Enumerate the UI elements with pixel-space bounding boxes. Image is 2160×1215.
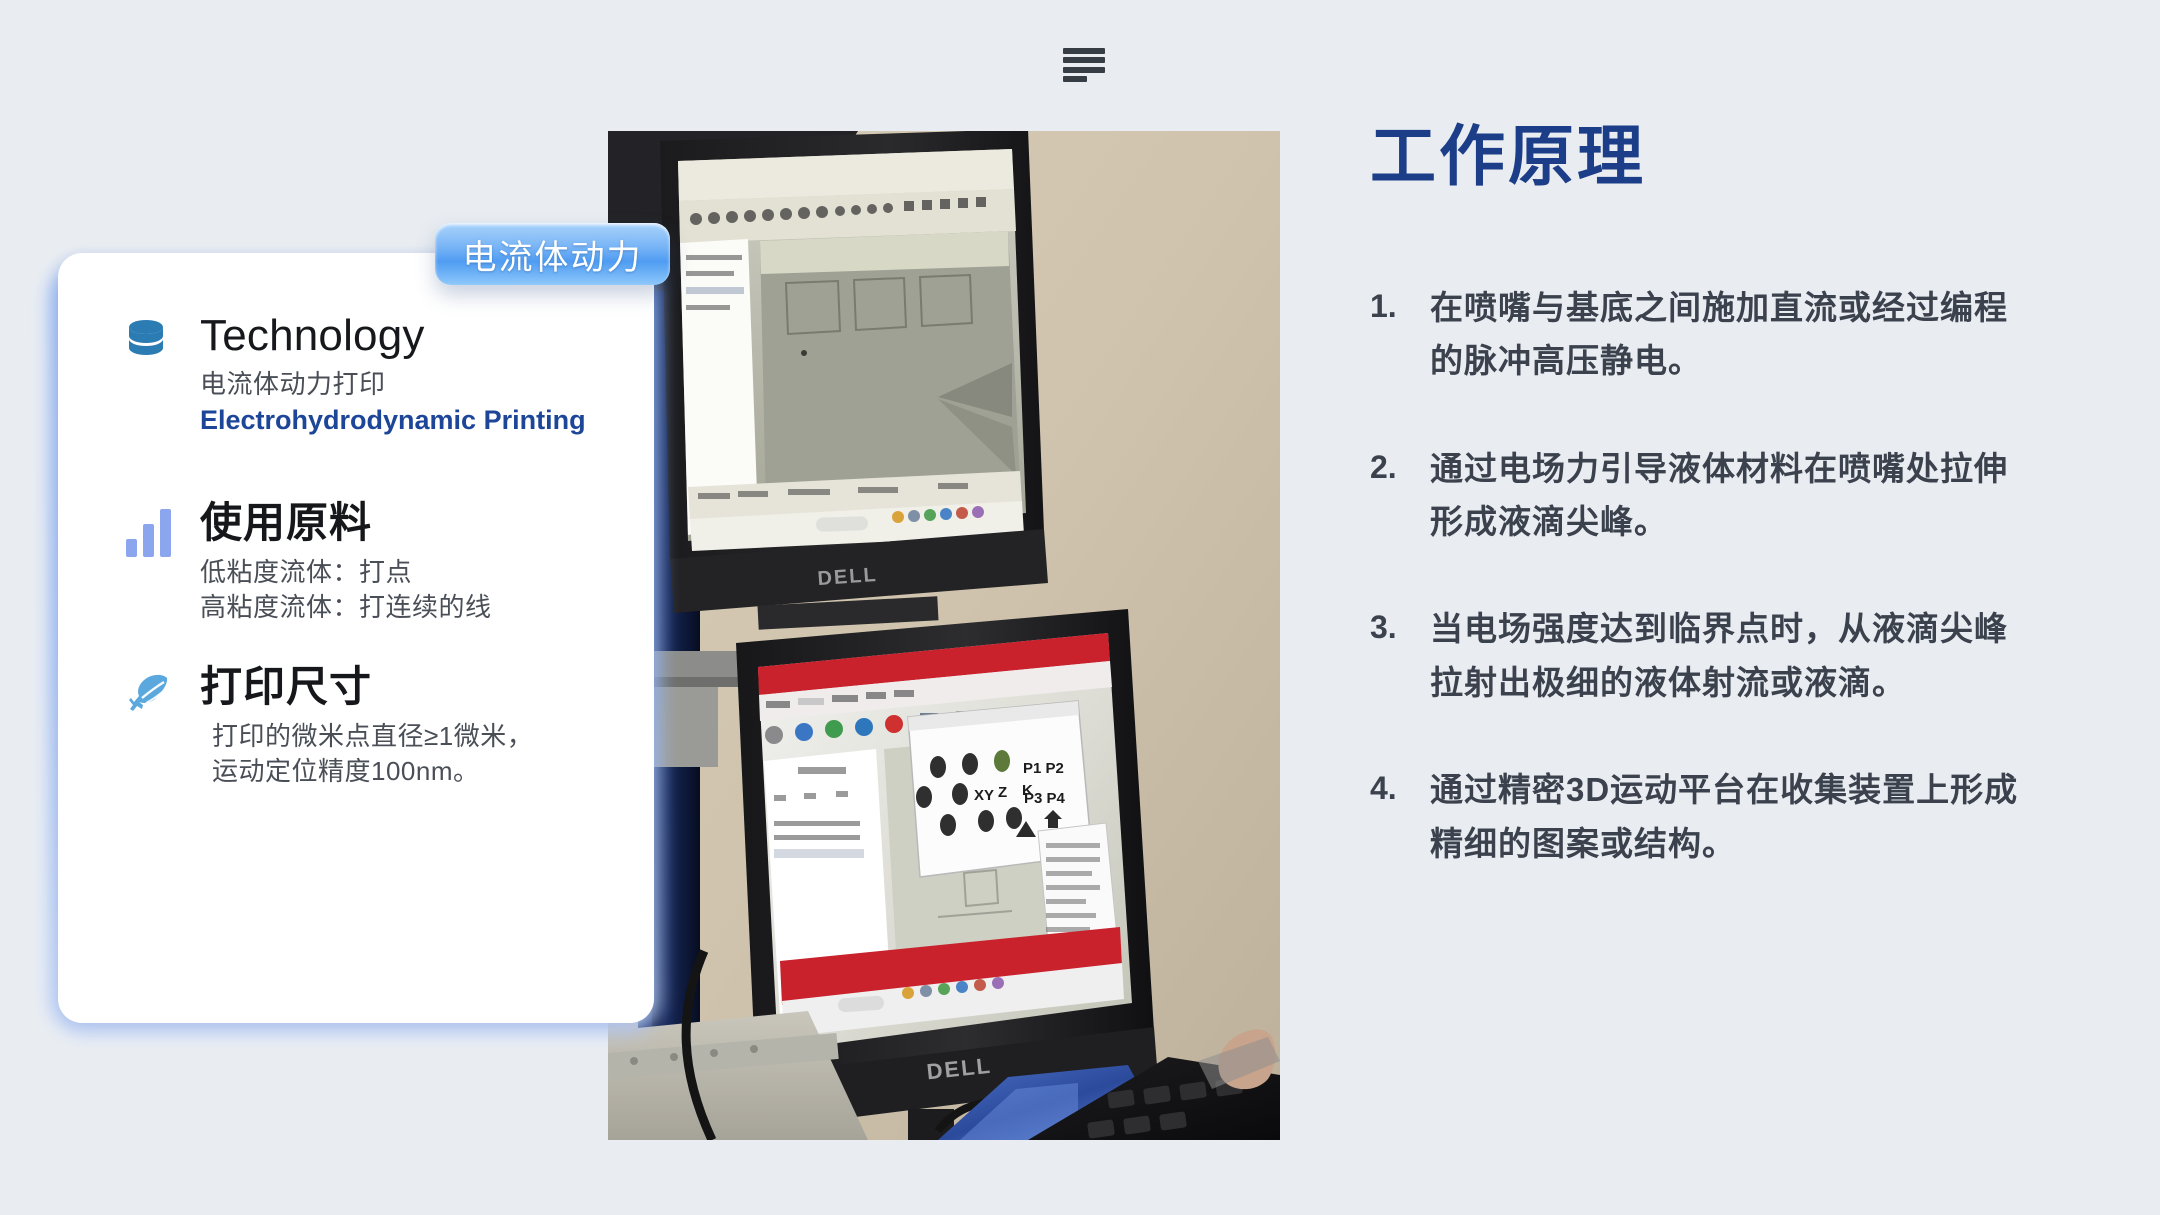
list-item-number: 2. bbox=[1370, 442, 1430, 549]
list-item: 3. 当电场强度达到临界点时，从液滴尖峰拉射出极细的液体射流或液滴。 bbox=[1370, 602, 2030, 709]
feather-icon bbox=[126, 665, 200, 716]
page-title: 工作原理 bbox=[1370, 120, 2030, 193]
bar-chart-icon bbox=[126, 501, 200, 557]
feature-title: 打印尺寸 bbox=[200, 665, 654, 709]
menu-line-2 bbox=[1063, 57, 1105, 63]
feature-line: 运动定位精度100nm。 bbox=[200, 754, 654, 789]
feature-line: 打印的微米点直径≥1微米， bbox=[200, 719, 654, 754]
slide-root: DELL bbox=[0, 0, 2160, 1215]
list-item-text: 在喷嘴与基底之间施加直流或经过编程的脉冲高压静电。 bbox=[1430, 281, 2030, 388]
menu-line-3 bbox=[1063, 67, 1105, 73]
technology-card: Technology 电流体动力打印 Electrohydrodynamic P… bbox=[40, 253, 670, 1043]
feature-technology: Technology 电流体动力打印 Electrohydrodynamic P… bbox=[58, 313, 654, 439]
lab-photo: DELL bbox=[608, 131, 1280, 1140]
feather-icon-svg bbox=[126, 671, 170, 711]
list-item-number: 1. bbox=[1370, 281, 1430, 388]
list-item-text: 当电场强度达到临界点时，从液滴尖峰拉射出极细的液体射流或液滴。 bbox=[1430, 602, 2030, 709]
list-item-number: 3. bbox=[1370, 602, 1430, 709]
list-item-text: 通过精密3D运动平台在收集装置上形成精细的图案或结构。 bbox=[1430, 763, 2030, 870]
list-item: 4. 通过精密3D运动平台在收集装置上形成精细的图案或结构。 bbox=[1370, 763, 2030, 870]
principle-panel: 工作原理 1. 在喷嘴与基底之间施加直流或经过编程的脉冲高压静电。 2. 通过电… bbox=[1370, 120, 2030, 924]
list-item: 2. 通过电场力引导液体材料在喷嘴处拉伸形成液滴尖峰。 bbox=[1370, 442, 2030, 549]
menu-lines-icon[interactable] bbox=[1063, 48, 1105, 82]
feature-materials: 使用原料 低粘度流体：打点 高粘度流体：打连续的线 bbox=[58, 501, 654, 625]
bar-chart-icon-bars bbox=[126, 507, 200, 557]
spacer-1 bbox=[58, 439, 654, 501]
feature-line: 电流体动力打印 bbox=[200, 367, 654, 402]
bar-3 bbox=[160, 509, 171, 557]
svg-text:P1 P2: P1 P2 bbox=[1023, 760, 1064, 777]
list-item: 1. 在喷嘴与基底之间施加直流或经过编程的脉冲高压静电。 bbox=[1370, 281, 2030, 388]
svg-text:DELL: DELL bbox=[817, 564, 879, 590]
menu-line-4 bbox=[1063, 76, 1087, 82]
list-item-number: 4. bbox=[1370, 763, 1430, 870]
list-item-text: 通过电场力引导液体材料在喷嘴处拉伸形成液滴尖峰。 bbox=[1430, 442, 2030, 549]
spacer-2 bbox=[58, 625, 654, 665]
lab-photo-illustration: DELL bbox=[608, 131, 1280, 1140]
bar-2 bbox=[143, 524, 154, 557]
svg-text:K: K bbox=[1022, 782, 1033, 799]
svg-text:XY: XY bbox=[974, 787, 994, 804]
status-badge[interactable]: 电流体动力 bbox=[435, 223, 670, 285]
menu-line-1 bbox=[1063, 48, 1105, 54]
feature-print-size: 打印尺寸 打印的微米点直径≥1微米， 运动定位精度100nm。 bbox=[58, 665, 654, 789]
feature-line: 高粘度流体：打连续的线 bbox=[200, 590, 654, 625]
database-icon bbox=[126, 313, 200, 366]
status-badge-label: 电流体动力 bbox=[463, 230, 643, 279]
bar-1 bbox=[126, 539, 137, 557]
principle-list: 1. 在喷嘴与基底之间施加直流或经过编程的脉冲高压静电。 2. 通过电场力引导液… bbox=[1370, 281, 2030, 871]
feature-title: Technology bbox=[200, 313, 654, 359]
feature-title: 使用原料 bbox=[200, 501, 654, 545]
database-icon-svg bbox=[126, 319, 166, 361]
svg-text:Z: Z bbox=[998, 784, 1007, 801]
feature-line-highlight: Electrohydrodynamic Printing bbox=[200, 402, 654, 438]
card-surface: Technology 电流体动力打印 Electrohydrodynamic P… bbox=[58, 253, 654, 1023]
feature-line: 低粘度流体：打点 bbox=[200, 555, 654, 590]
